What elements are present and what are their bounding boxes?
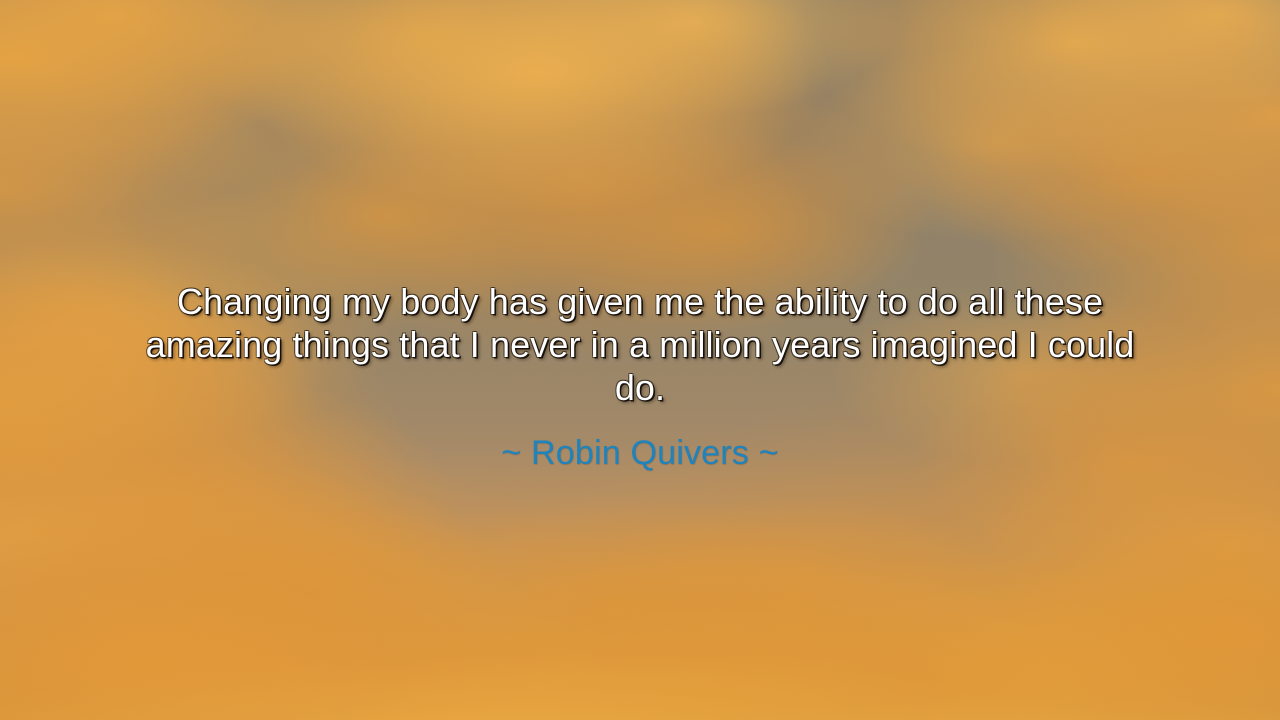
quote-image-canvas: Changing my body has given me the abilit… bbox=[0, 0, 1280, 720]
quote-author: ~ Robin Quivers ~ bbox=[60, 433, 1220, 473]
quote-text: Changing my body has given me the abilit… bbox=[120, 280, 1160, 409]
quote-block: Changing my body has given me the abilit… bbox=[0, 280, 1280, 473]
